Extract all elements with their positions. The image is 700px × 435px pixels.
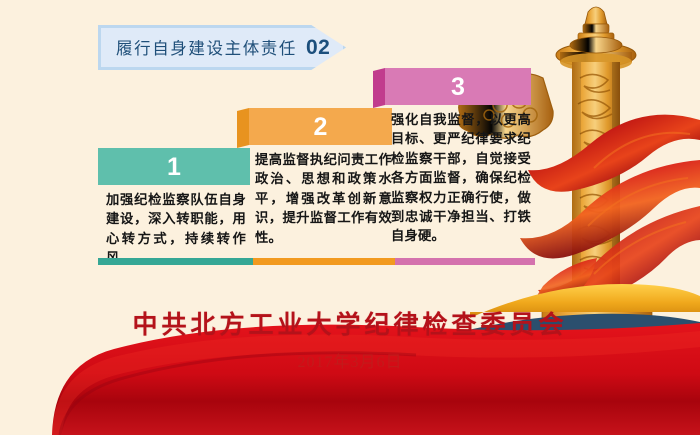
card-2-text: 提高监督执纪问责工作政治、思想和政策水平，增强改革创新意识，提升监督工作有效性。 — [255, 150, 392, 247]
rule-segment-orange — [253, 258, 395, 265]
red-silk-ribbon-icon — [520, 115, 700, 307]
content-card-3: 3 强化自我监督，以更高目标、更严纪律要求纪检监察干部，自觉接受各方面监督，确保… — [373, 68, 531, 270]
presentation-date: 2017年3月6日 — [0, 348, 700, 372]
organization-title: 中共北方工业大学纪律检查委员会 — [0, 305, 700, 341]
card-1-text: 加强纪检监察队伍自身建设，深入转职能，用心转方式，持续转作风。 — [106, 190, 246, 268]
card-2-number-wrap: 2 — [249, 108, 392, 145]
content-card-1: 1 加强纪检监察队伍自身建设，深入转职能，用心转方式，持续转作风。 — [98, 148, 250, 270]
content-card-2: 2 提高监督执纪问责工作政治、思想和政策水平，增强改革创新意识，提升监督工作有效… — [237, 108, 392, 270]
header-section-number: 02 — [306, 36, 330, 60]
card-3-number-wrap: 3 — [385, 68, 531, 105]
presentation-slide: 履行自身建设主体责任 02 1 加强纪检监察队伍自身建设，深入转职能，用心转方式… — [0, 0, 700, 435]
rule-segment-teal — [98, 258, 253, 265]
card-2-number: 2 — [314, 115, 328, 140]
header-title: 履行自身建设主体责任 — [116, 35, 297, 59]
card-1-number: 1 — [167, 155, 181, 180]
rule-segment-pink — [395, 258, 535, 265]
card-3-text: 强化自我监督，以更高目标、更严纪律要求纪检监察干部，自觉接受各方面监督，确保纪检… — [391, 110, 531, 246]
card-3-number: 3 — [451, 75, 465, 100]
header-banner: 履行自身建设主体责任 02 — [98, 25, 346, 70]
card-1-number-wrap: 1 — [98, 148, 250, 185]
